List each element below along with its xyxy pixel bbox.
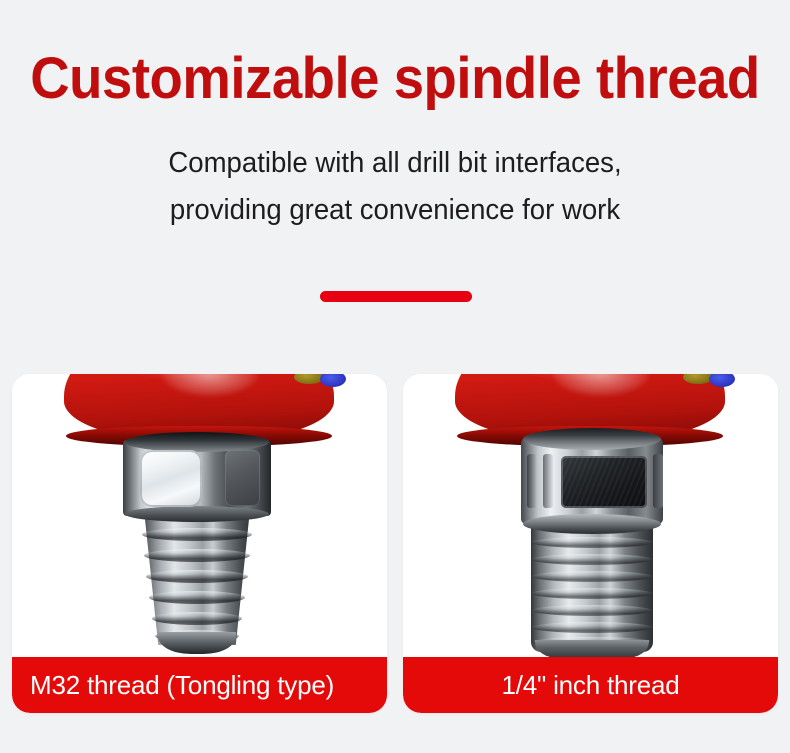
- product-photo-m32-thread: [12, 374, 387, 657]
- thread-ring: [149, 591, 245, 604]
- product-card-list: M32 thread (Tongling type): [12, 374, 778, 713]
- collar-groove: [527, 454, 537, 508]
- thread-ring: [532, 588, 652, 599]
- collar-groove: [653, 454, 663, 508]
- subtitle-line-2: providing great convenience for work: [20, 187, 771, 234]
- hex-nut-top: [125, 432, 269, 452]
- thread-ring: [532, 622, 652, 633]
- accent-divider: [320, 291, 472, 302]
- blue-wire-icon: [320, 374, 346, 387]
- promo-banner: Customizable spindle thread Compatible w…: [0, 0, 790, 753]
- product-card-m32-thread[interactable]: M32 thread (Tongling type): [12, 374, 387, 713]
- hex-nut-bright-facet: [140, 450, 202, 507]
- thread-ring: [152, 612, 242, 625]
- card-caption-quarter-inch-thread: 1/4" inch thread: [403, 657, 778, 713]
- collar-groove: [543, 454, 553, 508]
- thread-ring: [146, 570, 248, 583]
- page-title: Customizable spindle thread: [24, 48, 767, 110]
- card-caption-label: M32 thread (Tongling type): [30, 670, 334, 701]
- shaft-tip: [158, 632, 236, 654]
- product-card-quarter-inch-thread[interactable]: 1/4" inch thread: [403, 374, 778, 713]
- collar-top-ring: [523, 428, 661, 450]
- collar-bottom-ring: [523, 514, 661, 534]
- blue-wire-icon: [709, 374, 735, 387]
- card-caption-label: 1/4" inch thread: [501, 670, 679, 701]
- thread-ring: [532, 605, 652, 616]
- thread-ring: [532, 537, 652, 548]
- hex-nut-bottom: [125, 506, 269, 522]
- shaft-tip: [535, 640, 649, 657]
- thread-ring: [142, 528, 252, 541]
- thread-ring: [532, 571, 652, 582]
- subtitle-line-1: Compatible with all drill bit interfaces…: [20, 140, 771, 187]
- product-photo-quarter-inch-thread: [403, 374, 778, 657]
- page-subtitle: Compatible with all drill bit interfaces…: [20, 140, 771, 234]
- collar-dark-window: [561, 456, 647, 508]
- hex-nut-dark-facet: [225, 450, 260, 506]
- thread-ring: [144, 549, 250, 562]
- thread-ring: [532, 554, 652, 565]
- card-caption-m32-thread: M32 thread (Tongling type): [12, 657, 387, 713]
